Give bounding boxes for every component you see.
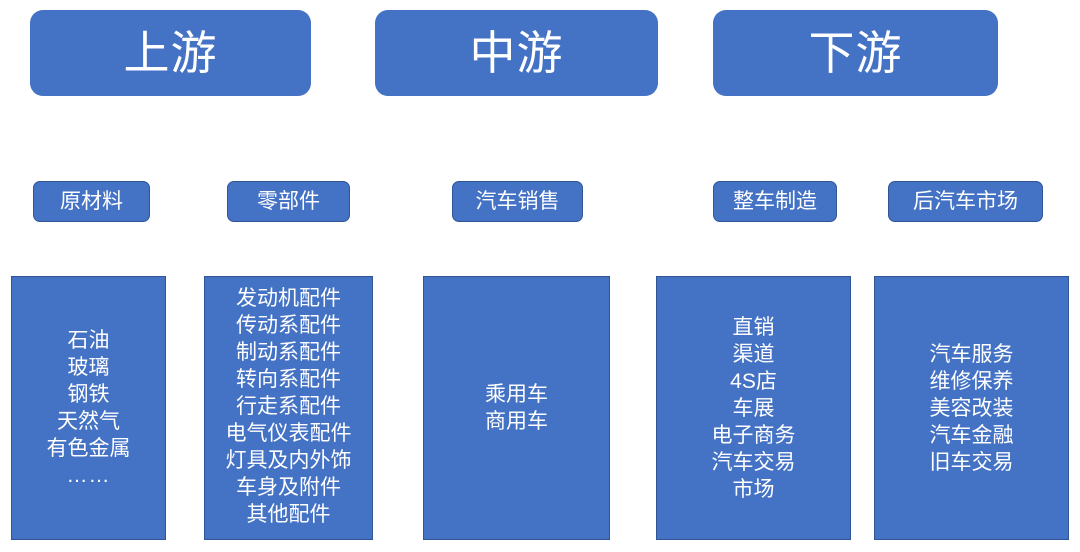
tier-label-downstream: 下游 (809, 30, 903, 76)
category-pill-raw-materials[interactable]: 原材料 (33, 181, 150, 222)
content-list-auto-sales: 乘用车 商用车 (424, 381, 609, 435)
tier-label-upstream: 上游 (124, 30, 218, 76)
list-item: 钢铁 (12, 381, 165, 408)
content-list-vehicle-manufacturing: 直销 渠道 4S店 车展 电子商务 汽车交易 市场 (657, 314, 850, 503)
list-item: 灯具及内外饰 (205, 447, 372, 474)
content-list-raw-materials: 石油 玻璃 钢铁 天然气 有色金属 …… (12, 327, 165, 489)
list-item: 其他配件 (205, 501, 372, 528)
category-label-raw-materials: 原材料 (60, 191, 123, 212)
tier-box-upstream[interactable]: 上游 (30, 10, 311, 96)
content-box-raw-materials[interactable]: 石油 玻璃 钢铁 天然气 有色金属 …… (11, 276, 166, 540)
list-item: 旧车交易 (875, 449, 1068, 476)
list-item: 商用车 (424, 408, 609, 435)
list-item: 传动系配件 (205, 312, 372, 339)
list-item: 维修保养 (875, 368, 1068, 395)
list-item: 行走系配件 (205, 393, 372, 420)
list-item: 汽车服务 (875, 341, 1068, 368)
list-item: 车展 (657, 395, 850, 422)
tier-box-midstream[interactable]: 中游 (375, 10, 658, 96)
list-item: 美容改装 (875, 395, 1068, 422)
content-box-aftermarket[interactable]: 汽车服务 维修保养 美容改装 汽车金融 旧车交易 (874, 276, 1069, 540)
tier-box-downstream[interactable]: 下游 (713, 10, 998, 96)
list-item: 汽车交易 (657, 449, 850, 476)
category-pill-vehicle-manufacturing[interactable]: 整车制造 (713, 181, 837, 222)
category-pill-components[interactable]: 零部件 (227, 181, 350, 222)
category-label-aftermarket: 后汽车市场 (913, 191, 1018, 212)
list-item: 渠道 (657, 341, 850, 368)
list-item: 车身及附件 (205, 474, 372, 501)
content-box-auto-sales[interactable]: 乘用车 商用车 (423, 276, 610, 540)
category-label-auto-sales: 汽车销售 (476, 191, 560, 212)
content-box-components[interactable]: 发动机配件 传动系配件 制动系配件 转向系配件 行走系配件 电气仪表配件 灯具及… (204, 276, 373, 540)
list-item-ellipsis: …… (12, 462, 165, 489)
list-item: 石油 (12, 327, 165, 354)
category-pill-auto-sales[interactable]: 汽车销售 (452, 181, 583, 222)
diagram-canvas: 上游 中游 下游 原材料 零部件 汽车销售 整车制造 后汽车市场 石油 玻璃 钢… (0, 0, 1080, 552)
content-list-components: 发动机配件 传动系配件 制动系配件 转向系配件 行走系配件 电气仪表配件 灯具及… (205, 285, 372, 528)
category-label-components: 零部件 (257, 191, 320, 212)
list-item: 4S店 (657, 368, 850, 395)
category-pill-aftermarket[interactable]: 后汽车市场 (888, 181, 1043, 222)
list-item: 玻璃 (12, 354, 165, 381)
content-list-aftermarket: 汽车服务 维修保养 美容改装 汽车金融 旧车交易 (875, 341, 1068, 476)
list-item: 制动系配件 (205, 339, 372, 366)
list-item: 市场 (657, 476, 850, 503)
category-label-vehicle-manufacturing: 整车制造 (733, 191, 817, 212)
list-item: 天然气 (12, 408, 165, 435)
list-item: 有色金属 (12, 435, 165, 462)
content-box-vehicle-manufacturing[interactable]: 直销 渠道 4S店 车展 电子商务 汽车交易 市场 (656, 276, 851, 540)
list-item: 直销 (657, 314, 850, 341)
list-item: 转向系配件 (205, 366, 372, 393)
list-item: 电子商务 (657, 422, 850, 449)
tier-label-midstream: 中游 (470, 30, 564, 76)
list-item: 电气仪表配件 (205, 420, 372, 447)
list-item: 发动机配件 (205, 285, 372, 312)
list-item: 乘用车 (424, 381, 609, 408)
list-item: 汽车金融 (875, 422, 1068, 449)
